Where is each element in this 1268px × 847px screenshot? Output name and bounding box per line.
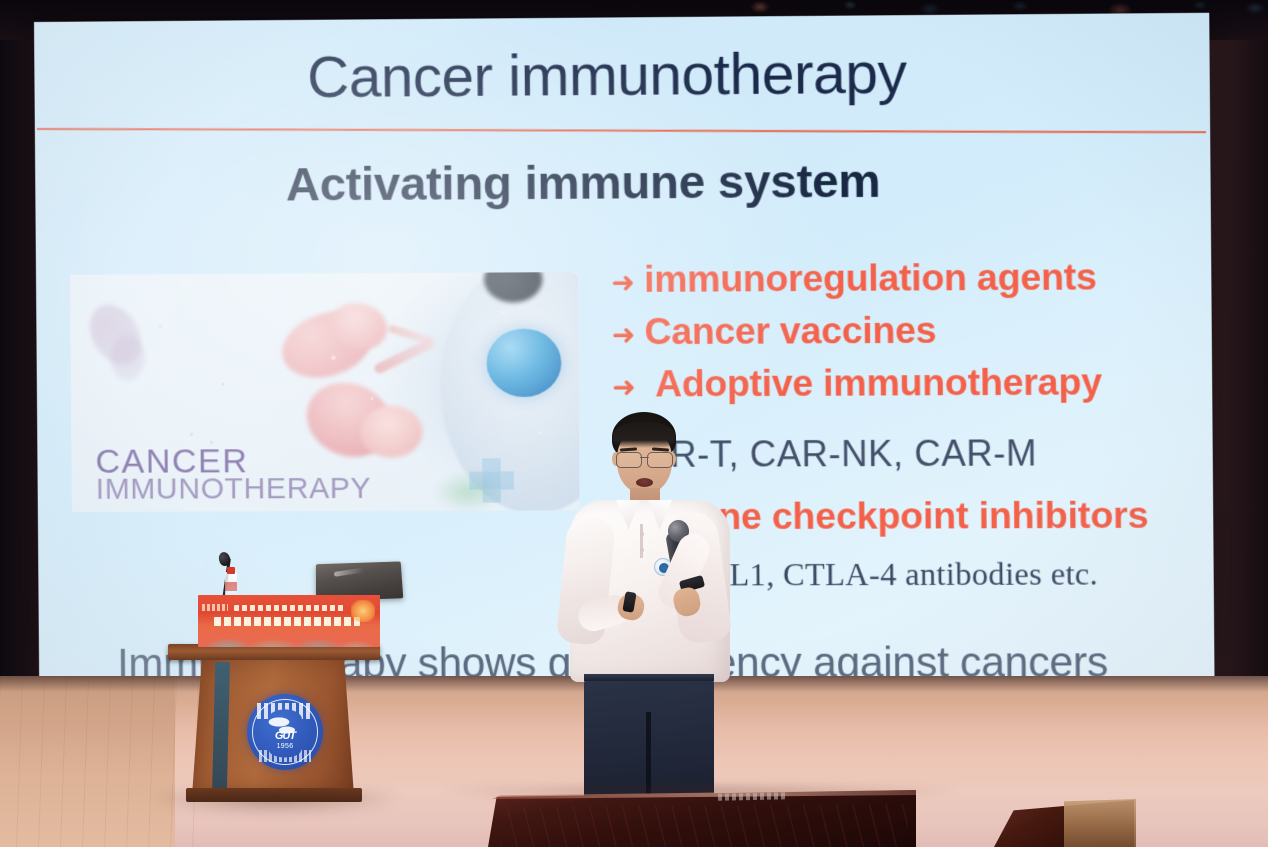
water-bottle-label bbox=[225, 582, 237, 591]
presenter-mouth bbox=[636, 478, 653, 487]
arrow-bullet-icon: ➜ bbox=[612, 321, 636, 349]
arrow-bullet-icon: ➜ bbox=[611, 269, 635, 297]
presenter-belt bbox=[584, 674, 714, 681]
lectern-floor-shadow bbox=[150, 790, 400, 816]
bullet-label: Cancer vaccines bbox=[644, 310, 936, 354]
slide-image-cancer-immunotherapy: CANCER IMMUNOTHERAPY bbox=[70, 272, 580, 512]
bullet-item: ➜ immunoregulation agents bbox=[611, 256, 1211, 302]
slide-bullet-list: ➜ immunoregulation agents ➜ Cancer vacci… bbox=[611, 256, 1212, 416]
banner-anniversary-emblem bbox=[351, 600, 375, 622]
presenter-shirt-placket bbox=[640, 524, 643, 558]
emblem-arc-text-bottom bbox=[259, 750, 311, 762]
title-divider-rule bbox=[37, 128, 1206, 133]
banner-title-text bbox=[214, 617, 360, 626]
bullet-item: ➜ Adoptive immunotherapy bbox=[612, 361, 1212, 406]
banner-landscape-graphic bbox=[198, 627, 380, 647]
image-caption-line2: IMMUNOTHERAPY bbox=[96, 472, 372, 507]
stage-monitor-brand-label bbox=[718, 792, 788, 800]
water-bottle-cap bbox=[227, 567, 235, 574]
emblem-year: 1956 bbox=[247, 743, 323, 750]
presenter bbox=[556, 412, 746, 812]
banner-logo bbox=[202, 604, 228, 611]
bullet-item: ➜ Cancer vaccines bbox=[611, 308, 1211, 353]
glasses-icon bbox=[614, 452, 675, 467]
laptop-screen-glare bbox=[334, 568, 364, 577]
conference-stage-photo: Cancer immunotherapy Activating immune s… bbox=[0, 0, 1268, 847]
slide-title: Cancer immunotherapy bbox=[307, 38, 1139, 112]
presenter-hair-front bbox=[613, 422, 675, 448]
university-emblem-icon: GUT 1956 bbox=[247, 694, 323, 770]
lectern-banner bbox=[198, 595, 380, 647]
stage-monitor-right-face bbox=[1064, 799, 1136, 847]
bullet-label: immunoregulation agents bbox=[644, 256, 1097, 301]
presenter-shirt-button bbox=[640, 548, 644, 552]
bullet-label: Adoptive immunotherapy bbox=[645, 361, 1102, 405]
presenter-shirt-button bbox=[640, 532, 644, 536]
stage-monitor-grille bbox=[500, 804, 908, 847]
arrow-bullet-icon: ➜ bbox=[612, 373, 636, 401]
lectern: GUT 1956 bbox=[168, 592, 380, 804]
banner-subtitle-text bbox=[234, 605, 344, 611]
glasses-bridge bbox=[640, 457, 649, 458]
slide-subtitle: Activating immune system bbox=[286, 152, 881, 211]
emblem-abbrev: GUT bbox=[269, 730, 301, 743]
